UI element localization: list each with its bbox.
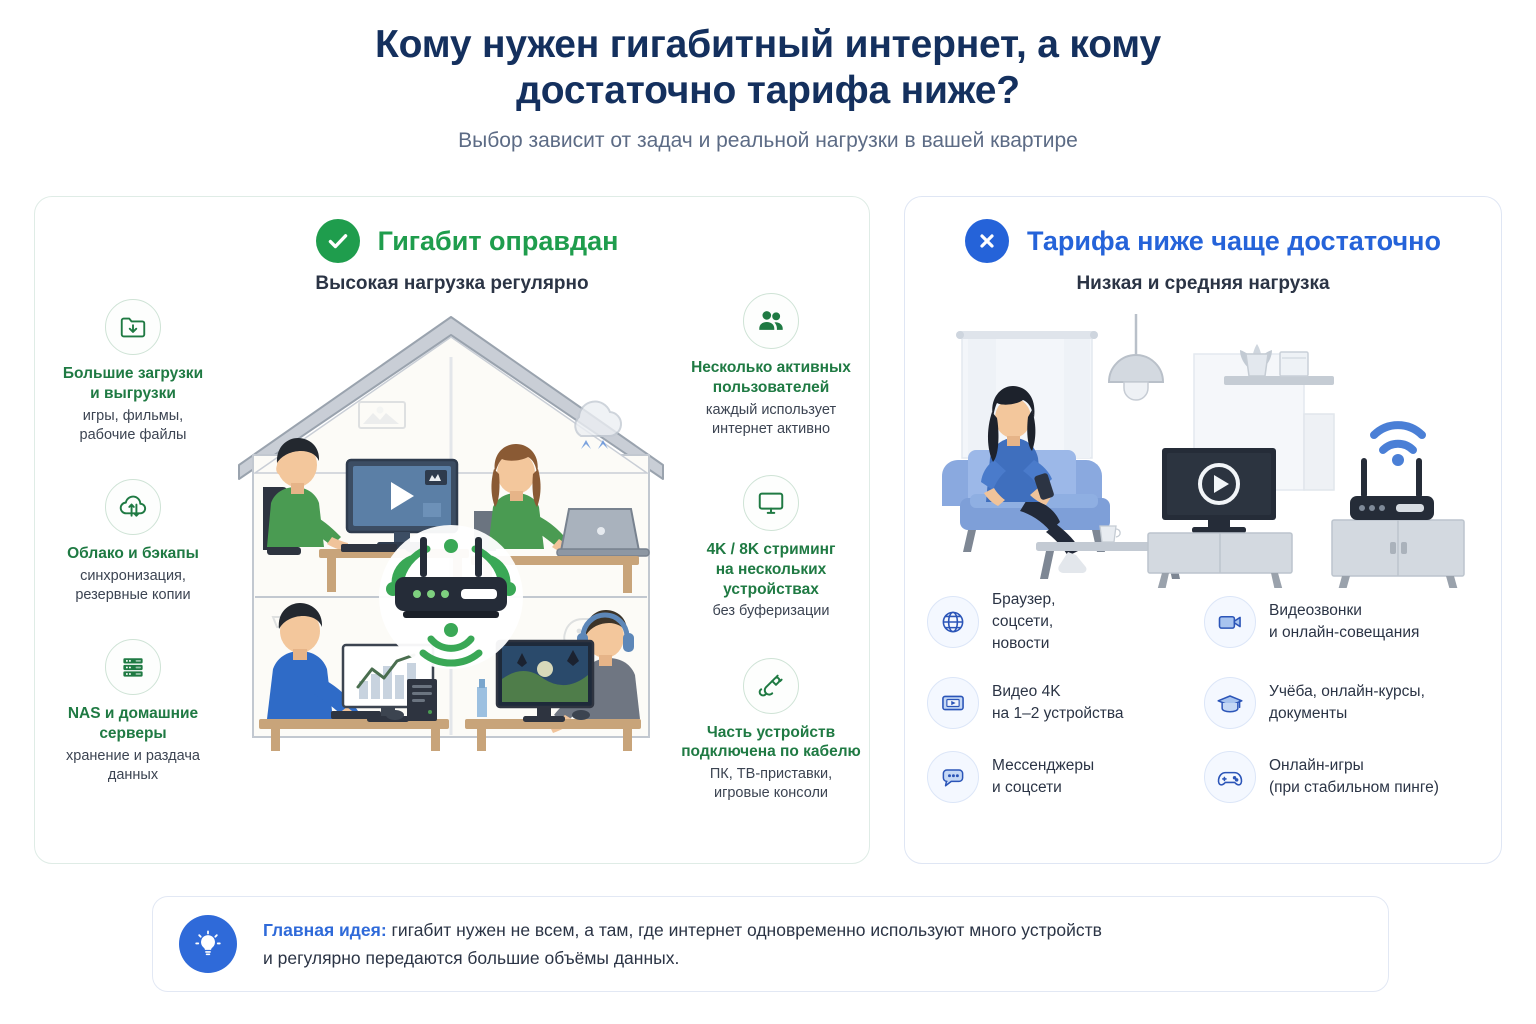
list-item-label: Мессенджеры и соцсети (992, 755, 1094, 799)
left-features-column: Большие загрузки и выгрузки игры, фильмы… (35, 293, 231, 865)
header: Кому нужен гигабитный интернет, а кому д… (0, 0, 1536, 153)
right-card-subtitle: Низкая и средняя нагрузка (905, 273, 1501, 295)
feature-title: 4K / 8K стриминг на нескольких устройств… (678, 540, 864, 599)
living-room-illustration (905, 293, 1503, 593)
list-item-label: Видео 4K на 1–2 устройства (992, 681, 1124, 725)
globe-icon (927, 596, 979, 648)
page-subtitle: Выбор зависит от задач и реальной нагруз… (0, 129, 1536, 153)
feature-desc: без буферизации (678, 602, 864, 621)
key-idea-banner: Главная идея: гигабит нужен не всем, а т… (152, 896, 1389, 992)
gamepad-icon (1204, 751, 1256, 803)
feature-multiple-users: Несколько активных пользователей каждый … (678, 293, 864, 439)
key-idea-line1: гигабит нужен не всем, а там, где интерн… (387, 920, 1102, 940)
feature-title: Облако и бэкапы (40, 544, 226, 564)
close-icon (965, 219, 1009, 263)
feature-big-downloads: Большие загрузки и выгрузки игры, фильмы… (40, 299, 226, 445)
feature-title: Несколько активных пользователей (678, 358, 864, 398)
page-title-line1: Кому нужен гигабитный интернет, а кому (268, 22, 1268, 68)
feature-desc: хранение и раздача данных (40, 747, 226, 785)
video-camera-icon (1204, 596, 1256, 648)
check-icon (316, 219, 360, 263)
cloud-sync-icon (105, 479, 161, 535)
feature-title: Часть устройств подключена по кабелю (678, 723, 864, 763)
left-card-header: Гигабит оправдан (35, 197, 869, 263)
feature-title: Большие загрузки и выгрузки (40, 364, 226, 404)
list-item: Мессенджеры и соцсети (927, 751, 1204, 803)
feature-wired-devices: Часть устройств подключена по кабелю ПК,… (678, 658, 864, 804)
page-title: Кому нужен гигабитный интернет, а кому д… (268, 22, 1268, 113)
feature-desc: игры, фильмы, рабочие файлы (40, 407, 226, 445)
list-item: Онлайн-игры (при стабильном пинге) (1204, 751, 1481, 803)
list-item: Видео 4K на 1–2 устройства (927, 677, 1204, 729)
key-idea-line2: и регулярно передаются большие объёмы да… (263, 944, 1102, 972)
key-idea-text: Главная идея: гигабит нужен не всем, а т… (263, 916, 1102, 973)
list-item: Учёба, онлайн-курсы, документы (1204, 677, 1481, 729)
ethernet-cable-icon (743, 658, 799, 714)
download-folder-icon (105, 299, 161, 355)
server-rack-icon (105, 639, 161, 695)
list-item-label: Видеозвонки и онлайн-совещания (1269, 600, 1419, 644)
list-item: Браузер, соцсети, новости (927, 589, 1204, 655)
card-lower-plan-enough: Тарифа ниже чаще достаточно Низкая и сре… (904, 196, 1502, 864)
users-group-icon (743, 293, 799, 349)
left-card-subtitle: Высокая нагрузка регулярно (35, 273, 869, 295)
feature-title: NAS и домашние серверы (40, 704, 226, 744)
cards-row: Гигабит оправдан Высокая нагрузка регуля… (0, 196, 1536, 864)
card-gigabit-justified: Гигабит оправдан Высокая нагрузка регуля… (34, 196, 870, 864)
monitor-icon (743, 475, 799, 531)
feature-4k-8k-streaming: 4K / 8K стриминг на нескольких устройств… (678, 475, 864, 622)
infographic-page: Кому нужен гигабитный интернет, а кому д… (0, 0, 1536, 1024)
feature-nas-servers: NAS и домашние серверы хранение и раздач… (40, 639, 226, 785)
chat-bubble-icon (927, 751, 979, 803)
right-card-item-list: Браузер, соцсети, новости Видеозвонки и … (905, 589, 1503, 803)
right-features-column: Несколько активных пользователей каждый … (671, 293, 871, 865)
right-card-header: Тарифа ниже чаще достаточно (905, 197, 1501, 263)
page-title-line2: достаточно тарифа ниже? (268, 68, 1268, 114)
list-item-label: Учёба, онлайн-курсы, документы (1269, 681, 1425, 725)
graduation-cap-icon (1204, 677, 1256, 729)
house-illustration (231, 293, 671, 865)
feature-desc: каждый использует интернет активно (678, 401, 864, 439)
list-item-label: Браузер, соцсети, новости (992, 589, 1055, 655)
play-video-icon (927, 677, 979, 729)
left-card-body: Большие загрузки и выгрузки игры, фильмы… (35, 293, 871, 865)
feature-desc: синхронизация, резервные копии (40, 567, 226, 605)
right-card-title: Тарифа ниже чаще достаточно (1027, 226, 1441, 257)
lightbulb-icon (179, 915, 237, 973)
list-item: Видеозвонки и онлайн-совещания (1204, 589, 1481, 655)
left-card-title: Гигабит оправдан (378, 226, 619, 257)
list-item-label: Онлайн-игры (при стабильном пинге) (1269, 755, 1439, 799)
feature-cloud-backup: Облако и бэкапы синхронизация, резервные… (40, 479, 226, 605)
feature-desc: ПК, ТВ-приставки, игровые консоли (678, 765, 864, 803)
key-idea-label: Главная идея: (263, 920, 387, 940)
